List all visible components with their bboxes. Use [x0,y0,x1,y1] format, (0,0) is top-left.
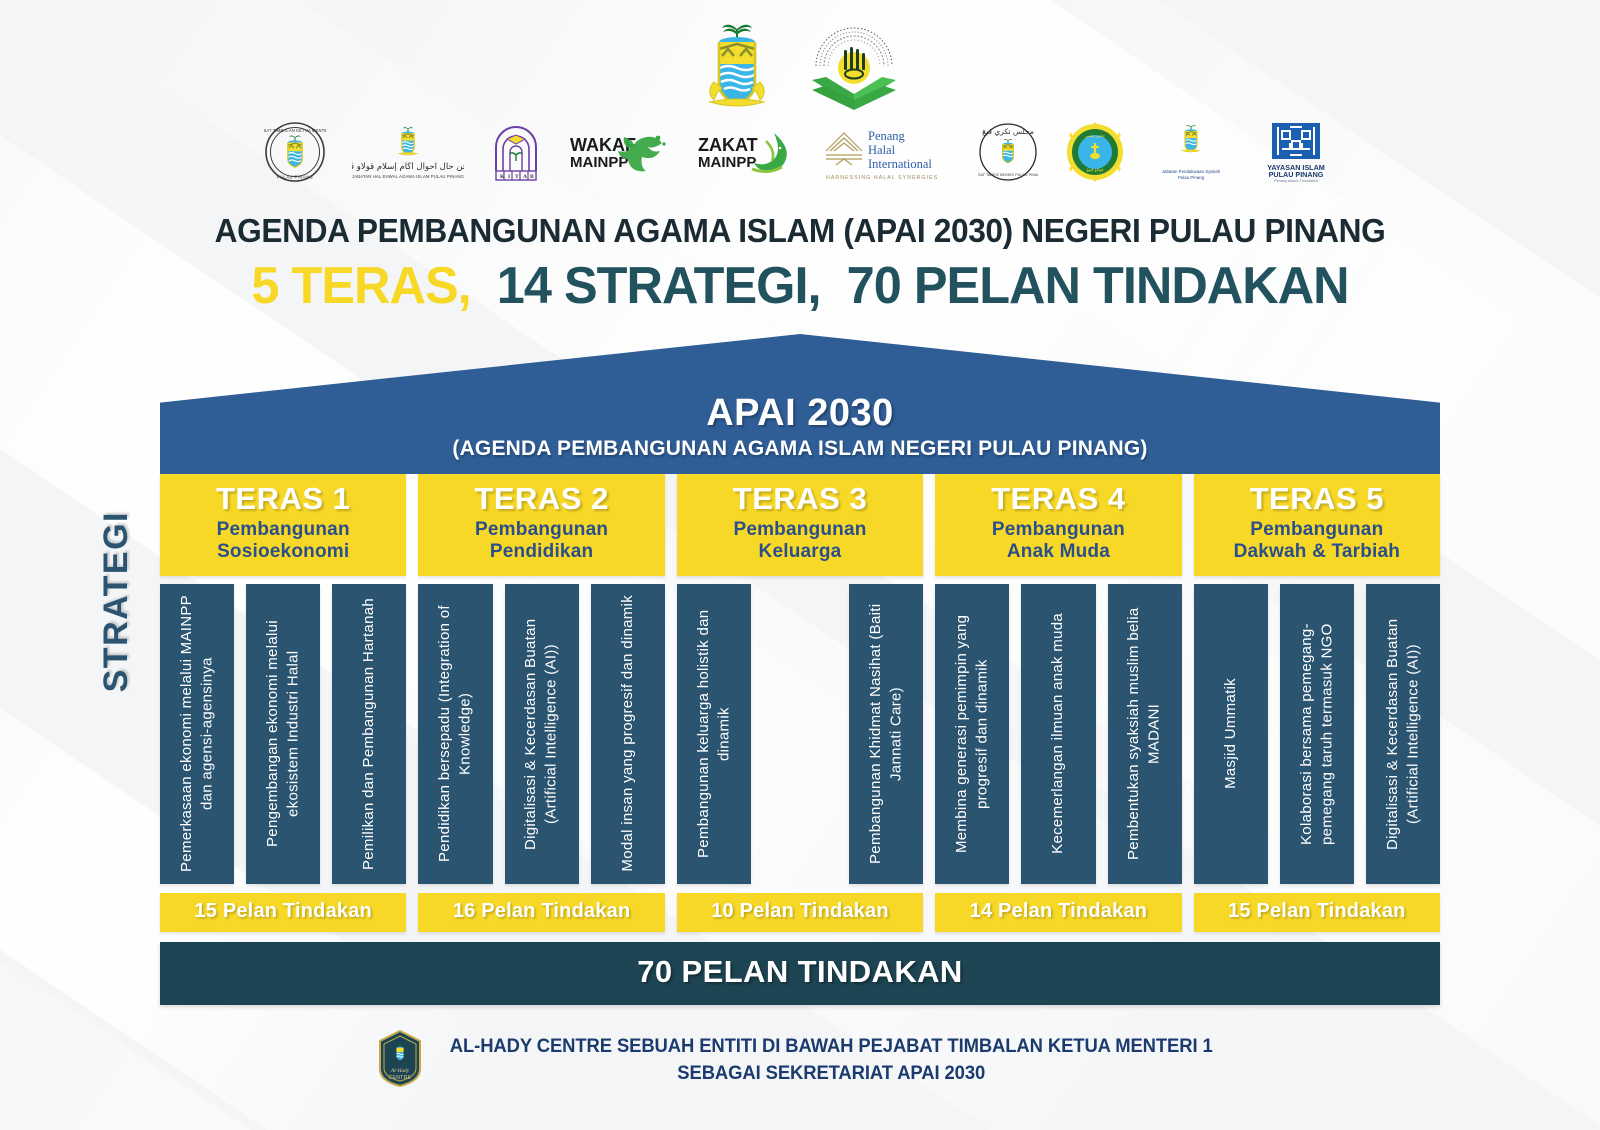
strategy-pillar: Kolaborasi bersama pemegang-pemegang tar… [1280,584,1354,884]
roof-subtitle: (AGENDA PEMBANGUNAN AGAMA ISLAM NEGERI P… [160,437,1440,461]
teras-5-pelan-count: 15 Pelan Tindakan [1194,893,1440,932]
strategy-pillar: Kecemerlangan ilmuan anak muda [1021,584,1095,884]
teras-4-subtitle-line2: Anak Muda [939,541,1177,563]
phi-label-line2: Halal [868,143,896,157]
teras-2-subtitle-line2: Pendidikan [422,541,660,563]
teras-2-pillars: Pendidikan bersepadu (Integration of Kno… [418,584,664,884]
yipp-tagline: Penang Islamic Foundation [1274,179,1318,183]
footer-credit-line1: AL-HADY CENTRE SEBUAH ENTITI DI BAWAH PE… [450,1033,1213,1061]
phi-label-line1: Penang [868,129,906,143]
yipp-label-line2: PULAU PINANG [1269,170,1324,179]
strategy-pillar: Modal insan yang progresif dan dinamik [591,584,665,884]
svg-text:PULAU PINANG: PULAU PINANG [277,175,313,180]
strategy-pillar: Pemilikan dan Pembangunan Hartanah [332,584,406,884]
teras-3-subtitle: Pembangunan Keluarga [681,519,919,564]
strategy-text: Pembangunan keluarga holistik dan dinami… [694,594,735,874]
strategy-text: Digitalisasi & Kecerdasan Buatan (Artifi… [521,594,562,874]
strategy-pillar: Digitalisasi & Kecerdasan Buatan (Artifi… [1366,584,1440,884]
teras-column-4: TERAS 4 Pembangunan Anak Muda Membina ge… [935,474,1181,932]
svg-text:جابتن مفتي: جابتن مفتي [1085,133,1105,138]
teras-4-pelan-count-text: 14 Pelan Tindakan [970,900,1148,922]
teras-5-subtitle-line2: Dakwah & Tarbiah [1198,541,1436,563]
partner-logo-row: PEJABAT TIMBALAN KETUA MENTERI (I) PULAU… [0,110,1600,190]
temple-diagram: APAI 2030 (AGENDA PEMBANGUNAN AGAMA ISLA… [160,334,1440,1005]
strategy-text: Digitalisasi & Kecerdasan Buatan (Artifi… [1383,594,1424,874]
teras-1-pelan-count-text: 15 Pelan Tindakan [194,900,372,922]
zakat-mainpp-logo: ZAKAT MAINPP [696,129,794,175]
teras-3-subtitle-line1: Pembangunan [681,519,919,541]
strategy-text: Kecemerlangan ilmuan anak muda [1048,613,1068,854]
teras-3-pillars: Pembangunan keluarga holistik dan dinami… [677,584,923,884]
strategy-pillar: Pemerkasaan ekonomi melalui MAINPP dan a… [160,584,234,884]
jps-caption-2: Pulau Pinang [1178,175,1205,180]
strategy-pillar: Membina generasi pemimpin yang progresif… [935,584,1009,884]
strategy-text: Membina generasi pemimpin yang progresif… [952,594,993,874]
teras-column-5: TERAS 5 Pembangunan Dakwah & Tarbiah Mas… [1194,474,1440,932]
teras-1-pillars: Pemerkasaan ekonomi melalui MAINPP dan a… [160,584,406,884]
teras-5-pelan-count-text: 15 Pelan Tindakan [1228,900,1406,922]
strategy-pillar: Pembangunan Khidmat Nasihat (Baiti Janna… [849,584,923,884]
strategy-text: Pembangunan Khidmat Nasihat (Baiti Janna… [866,594,907,874]
al-hady-centre-logo: Al-Hady CENTRE [376,1029,424,1092]
teras-2-number: TERAS 2 [422,483,660,516]
primary-logo-row [0,0,1600,110]
teras-column-1: TERAS 1 Pembangunan Sosioekonomi Pemerka… [160,474,406,932]
al-hady-logo-caption-1: Al-Hady [390,1068,410,1074]
teras-2-header: TERAS 2 Pembangunan Pendidikan [418,474,664,576]
teras-4-pelan-count: 14 Pelan Tindakan [935,893,1181,932]
svg-text:K: K [500,174,505,180]
yayasan-islam-pulau-pinang-logo: YAYASAN ISLAM PULAU PINANG Penang Islami… [1256,121,1336,183]
wakaf-label-line2: MAINPP [570,154,628,171]
zakat-label-line2: MAINPP [698,154,756,171]
pejabat-timbalan-ketua-menteri-logo: PEJABAT TIMBALAN KETUA MENTERI (I) PULAU… [264,121,326,183]
total-pelan-tindakan-text: 70 PELAN TINDAKAN [637,954,962,989]
teras-1-number: TERAS 1 [164,483,402,516]
teras-3-number: TERAS 3 [681,483,919,516]
penang-state-crest-logo [694,18,780,110]
svg-text:I: I [508,174,510,180]
teras-4-subtitle: Pembangunan Anak Muda [939,519,1177,564]
strategy-text: Modal insan yang progresif dan dinamik [618,595,638,872]
jps-caption-1: Jabatan Pendakwaan Syariah [1162,169,1221,174]
teras-1-header: TERAS 1 Pembangunan Sosioekonomi [160,474,406,576]
svg-text:B: B [530,174,534,180]
teras-4-header: TERAS 4 Pembangunan Anak Muda [935,474,1181,576]
total-pelan-tindakan-bar: 70 PELAN TINDAKAN [160,942,1440,1005]
strategy-pillar: Masjid Ummatik [1194,584,1268,884]
teras-3-pelan-count-text: 10 Pelan Tindakan [711,900,889,922]
strategy-text: Pembentukan syaksiah muslim belia MADANI [1124,594,1165,874]
svg-text:مجلس تكري فيڠ: مجلس تكري فيڠ [982,127,1034,136]
pusat-tahfiz-logo: مجلس تكري فيڠ PUSAT TAHFIZ NEGERI PULAU … [978,121,1038,183]
al-hady-logo-caption-2: CENTRE [388,1075,411,1081]
main-title-line1: AGENDA PEMBANGUNAN AGAMA ISLAM (APAI 203… [32,212,1568,250]
teras-3-pelan-count: 10 Pelan Tindakan [677,893,923,932]
strategy-pillar: Digitalisasi & Kecerdasan Buatan (Artifi… [505,584,579,884]
teras-1-subtitle: Pembangunan Sosioekonomi [164,519,402,564]
footer-credit-text: AL-HADY CENTRE SEBUAH ENTITI DI BAWAH PE… [438,1033,1224,1088]
strategi-axis-label-text: STRATEGI [97,511,136,692]
svg-text:A: A [523,174,527,180]
mainpp-logo [802,24,906,110]
strategy-text: Pendidikan bersepadu (Integration of Kno… [435,594,476,874]
strategy-text: Masjid Ummatik [1221,678,1241,789]
teras-3-header: TERAS 3 Pembangunan Keluarga [677,474,923,576]
strategy-pillar: Pembentukan syaksiah muslim belia MADANI [1108,584,1182,884]
strategy-text: Pemerkasaan ekonomi melalui MAINPP dan a… [177,594,218,874]
teras-5-header: TERAS 5 Pembangunan Dakwah & Tarbiah [1194,474,1440,576]
strategy-pillar: Pengembangan ekonomi melalui ekosistem I… [246,584,320,884]
penang-halal-international-logo: Penang Halal International HARNESSING HA… [820,121,952,183]
kitab-logo: K I T A B [490,123,542,181]
svg-text:قولاو ڤينڠ: قولاو ڤينڠ [1087,167,1104,172]
infographic-page: PEJABAT TIMBALAN KETUA MENTERI (I) PULAU… [0,0,1600,1130]
teras-2-subtitle: Pembangunan Pendidikan [422,519,660,564]
teras-1-subtitle-line2: Sosioekonomi [164,541,402,563]
teras-1-pelan-count: 15 Pelan Tindakan [160,893,406,932]
svg-text:PUSAT TAHFIZ NEGERI PULAU PINA: PUSAT TAHFIZ NEGERI PULAU PINANG [978,173,1038,177]
svg-text:T: T [515,174,519,180]
teras-4-number: TERAS 4 [939,483,1177,516]
jabatan-pendakwaan-syariah-logo: Jabatan Pendakwaan Syariah Pulau Pinang [1152,121,1230,183]
strategi-axis-label: STRATEGI [88,452,144,752]
roof-banner: APAI 2030 (AGENDA PEMBANGUNAN AGAMA ISLA… [160,334,1440,474]
strategy-text: Pengembangan ekonomi melalui ekosistem I… [263,594,304,874]
strategy-pillar-empty [763,584,837,884]
teras-5-subtitle: Pembangunan Dakwah & Tarbiah [1198,519,1436,564]
teras-4-subtitle-line1: Pembangunan [939,519,1177,541]
phi-label-line3: International [868,157,932,171]
title-block: AGENDA PEMBANGUNAN AGAMA ISLAM (APAI 203… [0,212,1600,316]
teras-2-subtitle-line1: Pembangunan [422,519,660,541]
teras-4-pillars: Membina generasi pemimpin yang progresif… [935,584,1181,884]
teras-1-subtitle-line1: Pembangunan [164,519,402,541]
jheaipp-caption: JABATAN HAL EHWAL AGAMA ISLAM PULAU PINA… [352,174,464,179]
zakat-label-line1: ZAKAT [698,135,758,155]
mufti-pulau-pinang-logo: جابتن مفتي قولاو ڤينڠ [1064,121,1126,183]
strategy-text: Pemilikan dan Pembangunan Hartanah [359,598,379,870]
wakaf-mainpp-logo: WAKAF MAINPP [568,129,670,175]
teras-5-number: TERAS 5 [1198,483,1436,516]
teras-2-pelan-count: 16 Pelan Tindakan [418,893,664,932]
teras-2-pelan-count-text: 16 Pelan Tindakan [453,900,631,922]
strategy-text: Kolaborasi bersama pemegang-pemegang tar… [1297,594,1338,874]
jheaipp-logo: جابتن حال احوال اڬام إسلام قولاو ڤينڠ JA… [352,122,464,182]
footer-credit-line2: SEBAGAI SEKRETARIAT APAI 2030 [450,1060,1213,1088]
title-strategi-count: 14 STRATEGI, [497,257,821,315]
teras-column-2: TERAS 2 Pembangunan Pendidikan Pendidika… [418,474,664,932]
strategy-pillar: Pendidikan bersepadu (Integration of Kno… [418,584,492,884]
teras-columns: TERAS 1 Pembangunan Sosioekonomi Pemerka… [160,474,1440,932]
strategy-pillar: Pembangunan keluarga holistik dan dinami… [677,584,751,884]
phi-tagline: HARNESSING HALAL SYNERGIES [826,175,938,181]
roof-title: APAI 2030 [160,392,1440,435]
teras-3-subtitle-line2: Keluarga [681,541,919,563]
jheaipp-arabic-caption: جابتن حال احوال اڬام إسلام قولاو ڤينڠ [352,162,464,172]
main-title-line2: 5 TERAS, 14 STRATEGI, 70 PELAN TINDAKAN [24,256,1576,316]
teras-5-subtitle-line1: Pembangunan [1198,519,1436,541]
title-teras-count: 5 TERAS, [251,257,470,315]
teras-5-pillars: Masjid Ummatik Kolaborasi bersama pemega… [1194,584,1440,884]
title-pelan-count: 70 PELAN TINDAKAN [847,257,1349,315]
footer-credit: Al-Hady CENTRE AL-HADY CENTRE SEBUAH ENT… [0,1029,1600,1092]
teras-column-3: TERAS 3 Pembangunan Keluarga Pembangunan… [677,474,923,932]
svg-text:PEJABAT TIMBALAN KETUA MENTERI: PEJABAT TIMBALAN KETUA MENTERI (I) [264,128,326,133]
